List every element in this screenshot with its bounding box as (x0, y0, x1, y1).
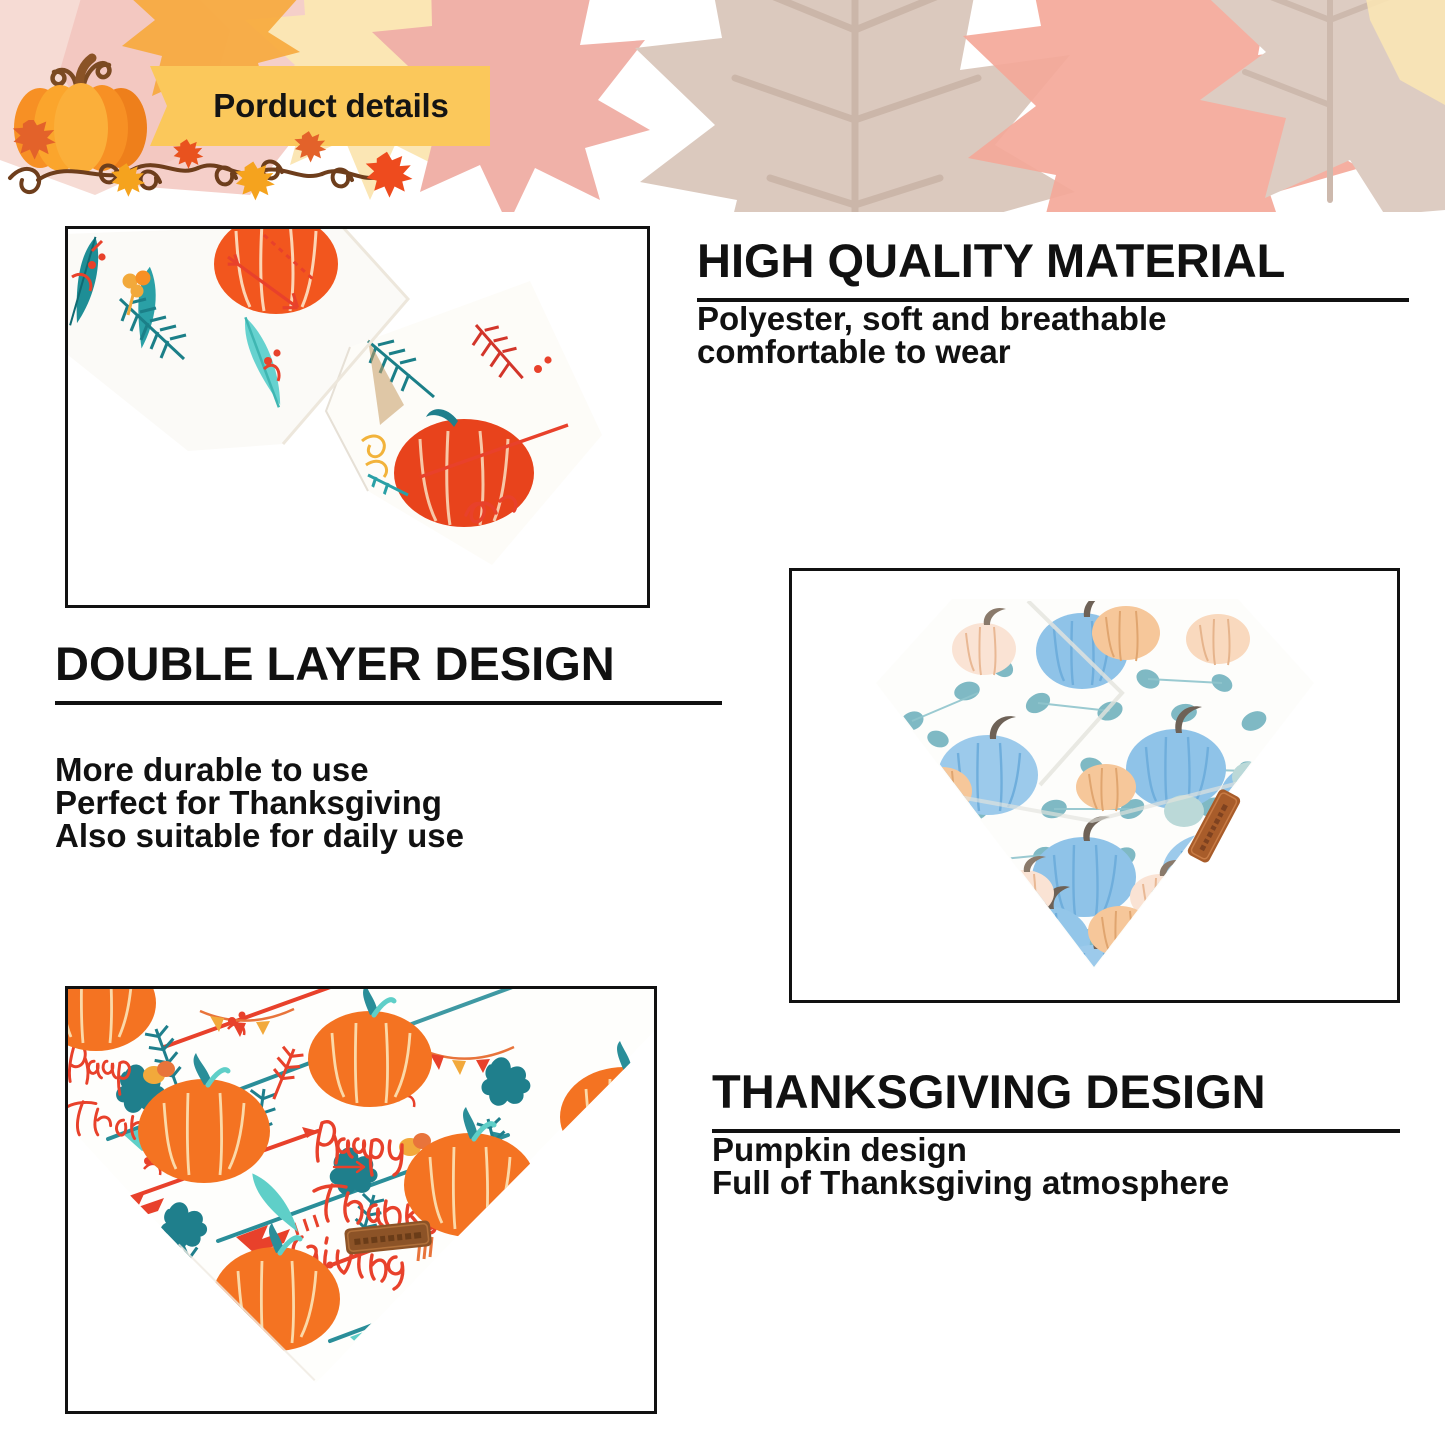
photo-double-layer-detail (65, 226, 650, 608)
section-line: comfortable to wear (697, 335, 1409, 368)
section-thanksgiving-design: THANKSGIVING DESIGN Pumpkin design Full … (712, 1068, 1400, 1199)
section-heading: THANKSGIVING DESIGN (712, 1068, 1400, 1115)
section-line: Also suitable for daily use (55, 819, 722, 852)
section-heading: HIGH QUALITY MATERIAL (697, 237, 1409, 284)
thanksgiving-bandana-illustration (68, 989, 654, 1411)
autumn-vine-icon (0, 120, 430, 212)
section-heading: DOUBLE LAYER DESIGN (55, 640, 722, 687)
blue-bandana-illustration (792, 571, 1397, 1000)
section-line: Polyester, soft and breathable (697, 302, 1409, 335)
photo-blue-pumpkin-bandana (789, 568, 1400, 1003)
section-high-quality-material: HIGH QUALITY MATERIAL Polyester, soft an… (697, 237, 1409, 368)
heading-divider (55, 701, 722, 705)
section-double-layer-design: DOUBLE LAYER DESIGN More durable to use … (55, 640, 722, 852)
photo-thanksgiving-bandana (65, 986, 657, 1414)
section-line: Pumpkin design (712, 1133, 1400, 1166)
section-line: More durable to use (55, 753, 722, 786)
bandana-fold-illustration (68, 229, 647, 605)
header-banner-area: Porduct details (0, 0, 1445, 212)
section-line: Perfect for Thanksgiving (55, 786, 722, 819)
section-line: Full of Thanksgiving atmosphere (712, 1166, 1400, 1199)
